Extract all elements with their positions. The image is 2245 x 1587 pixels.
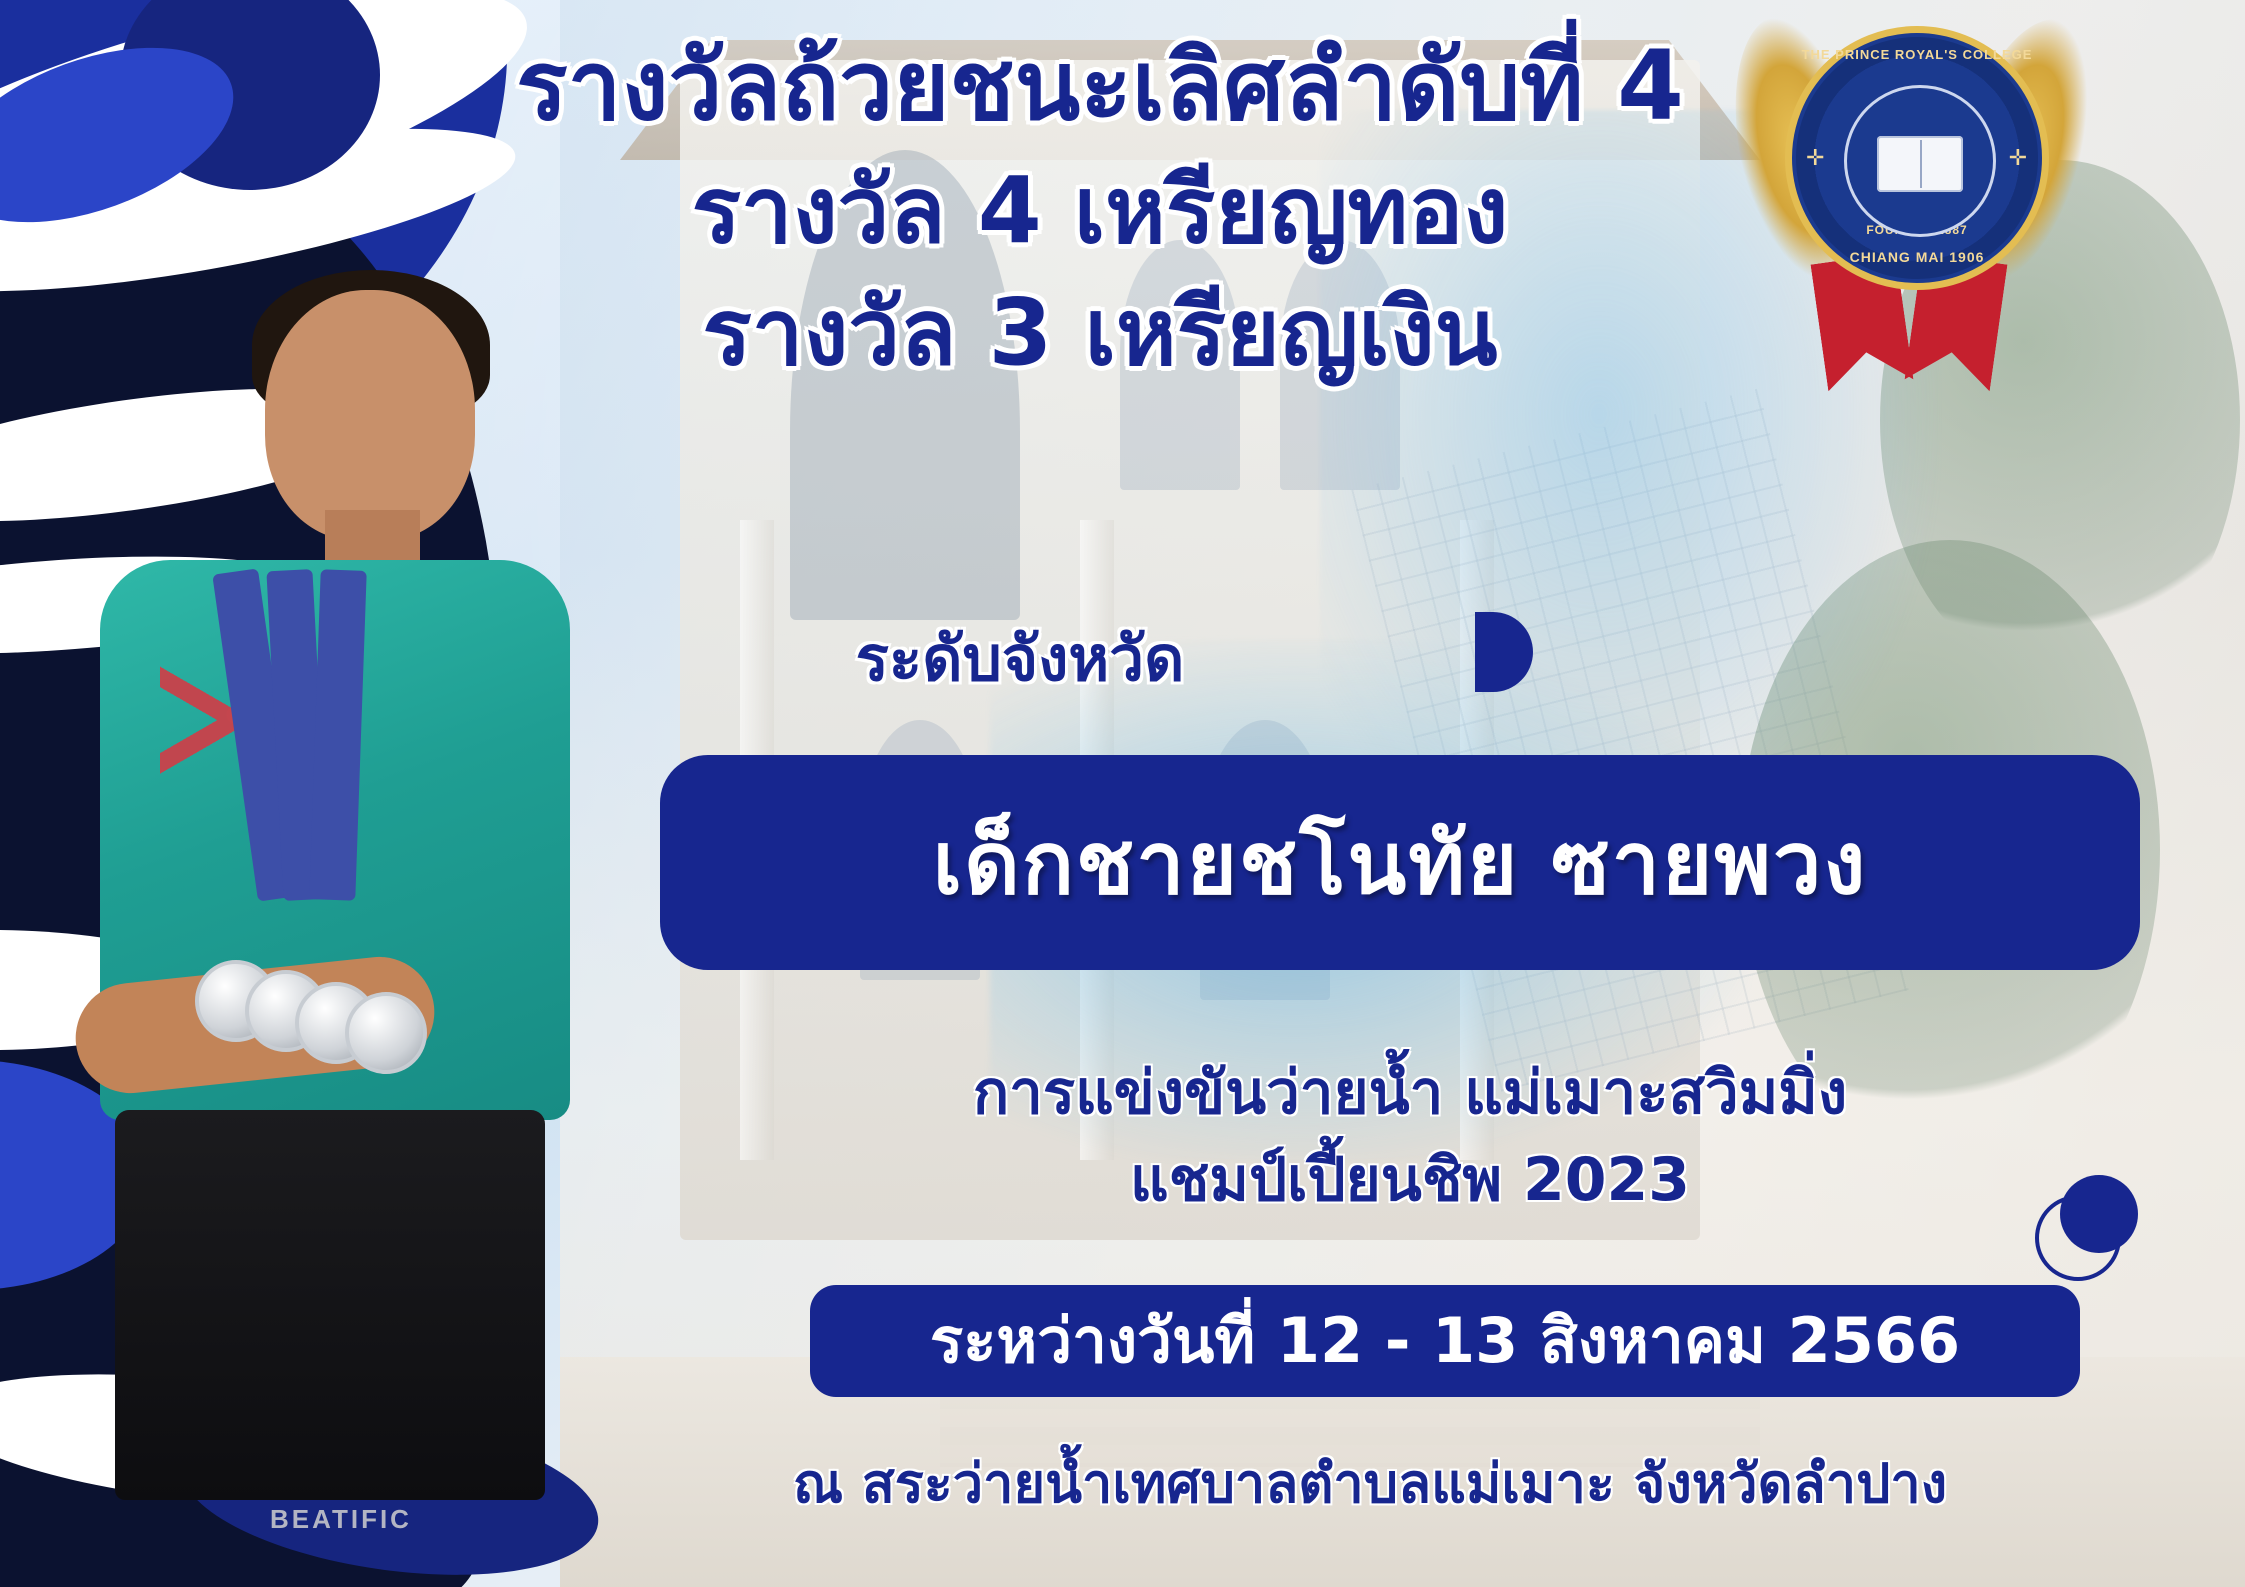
athlete-shorts [115, 1110, 545, 1500]
event-line-2: แชมป์เปี้ยนชิพ 2023 [700, 1137, 2120, 1224]
headline-line-1: รางวัลถ้วยชนะเลิศลำดับที่ 4 [300, 28, 1900, 145]
award-headline: รางวัลถ้วยชนะเลิศลำดับที่ 4 รางวัล 4 เหร… [300, 28, 1900, 400]
event-date-badge: ระหว่างวันที่ 12 - 13 สิงหาคม 2566 [810, 1285, 2080, 1397]
athlete-name-banner: เด็กชายชโนทัย ซายพวง [660, 755, 2140, 970]
jersey-brand-text: BEATIFIC [270, 1504, 412, 1535]
event-line-1: การแข่งขันว่ายน้ำ แม่เมาะสวิมมิ่ง [700, 1050, 2120, 1137]
dot-decor-icon [2060, 1175, 2138, 1253]
athlete-name: เด็กชายชโนทัย ซายพวง [933, 794, 1868, 931]
event-date: ระหว่างวันที่ 12 - 13 สิงหาคม 2566 [930, 1292, 1960, 1390]
event-title: การแข่งขันว่ายน้ำ แม่เมาะสวิมมิ่ง แชมป์เ… [700, 1050, 2120, 1224]
event-venue: ณ สระว่ายน้ำเทศบาลตำบลแม่เมาะ จังหวัดลำป… [560, 1440, 2180, 1526]
athlete-photo: BEATIFIC [20, 270, 580, 1587]
headline-line-3: รางวัล 3 เหรียญเงิน [300, 277, 1900, 389]
competition-level: ระดับจังหวัด [640, 610, 1400, 708]
headline-line-2: รางวัล 4 เหรียญทอง [300, 155, 1900, 267]
award-poster: BEATIFIC THE PRINCE ROYAL'S COLLEGE LUX … [0, 0, 2245, 1587]
cross-icon: ✛ [2009, 145, 2028, 171]
medal [345, 992, 427, 1074]
